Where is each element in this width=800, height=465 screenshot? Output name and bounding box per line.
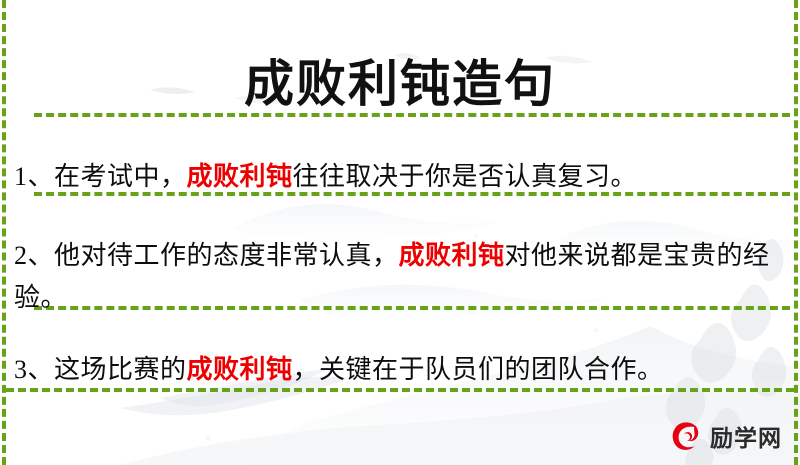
sentence-3-before: 这场比赛的 <box>54 355 187 384</box>
sentence-1-keyword: 成败利钝 <box>187 162 293 191</box>
list-item: 1、在考试中，成败利钝往往取决于你是否认真复习。 <box>14 156 774 198</box>
sentence-1-index: 1、 <box>14 162 54 191</box>
sentence-1-before: 在考试中， <box>54 162 187 191</box>
sentence-1-after: 往往取决于你是否认真复习。 <box>293 162 638 191</box>
sentence-3-index: 3、 <box>14 355 54 384</box>
divider-above-sentence-1 <box>34 113 790 117</box>
sentence-2-index: 2、 <box>14 241 54 270</box>
list-item: 2、他对待工作的态度非常认真，成败利钝对他来说都是宝贵的经验。 <box>14 235 774 319</box>
sentence-2-before: 他对待工作的态度非常认真， <box>54 241 399 270</box>
sentence-2-keyword: 成败利钝 <box>399 241 505 270</box>
red-swirl-flame-icon <box>669 419 703 453</box>
logo-text: 励学网 <box>710 419 782 453</box>
sentence-card-page: 成败利钝造句 1、在考试中，成败利钝往往取决于你是否认真复习。 2、他对待工作的… <box>0 0 800 465</box>
list-item: 3、这场比赛的成败利钝，关键在于队员们的团队合作。 <box>14 349 774 391</box>
site-logo[interactable]: 励学网 <box>669 419 782 453</box>
sentence-3-keyword: 成败利钝 <box>187 355 293 384</box>
page-title: 成败利钝造句 <box>0 56 800 114</box>
sentence-3-after: ，关键在于队员们的团队合作。 <box>293 355 664 384</box>
